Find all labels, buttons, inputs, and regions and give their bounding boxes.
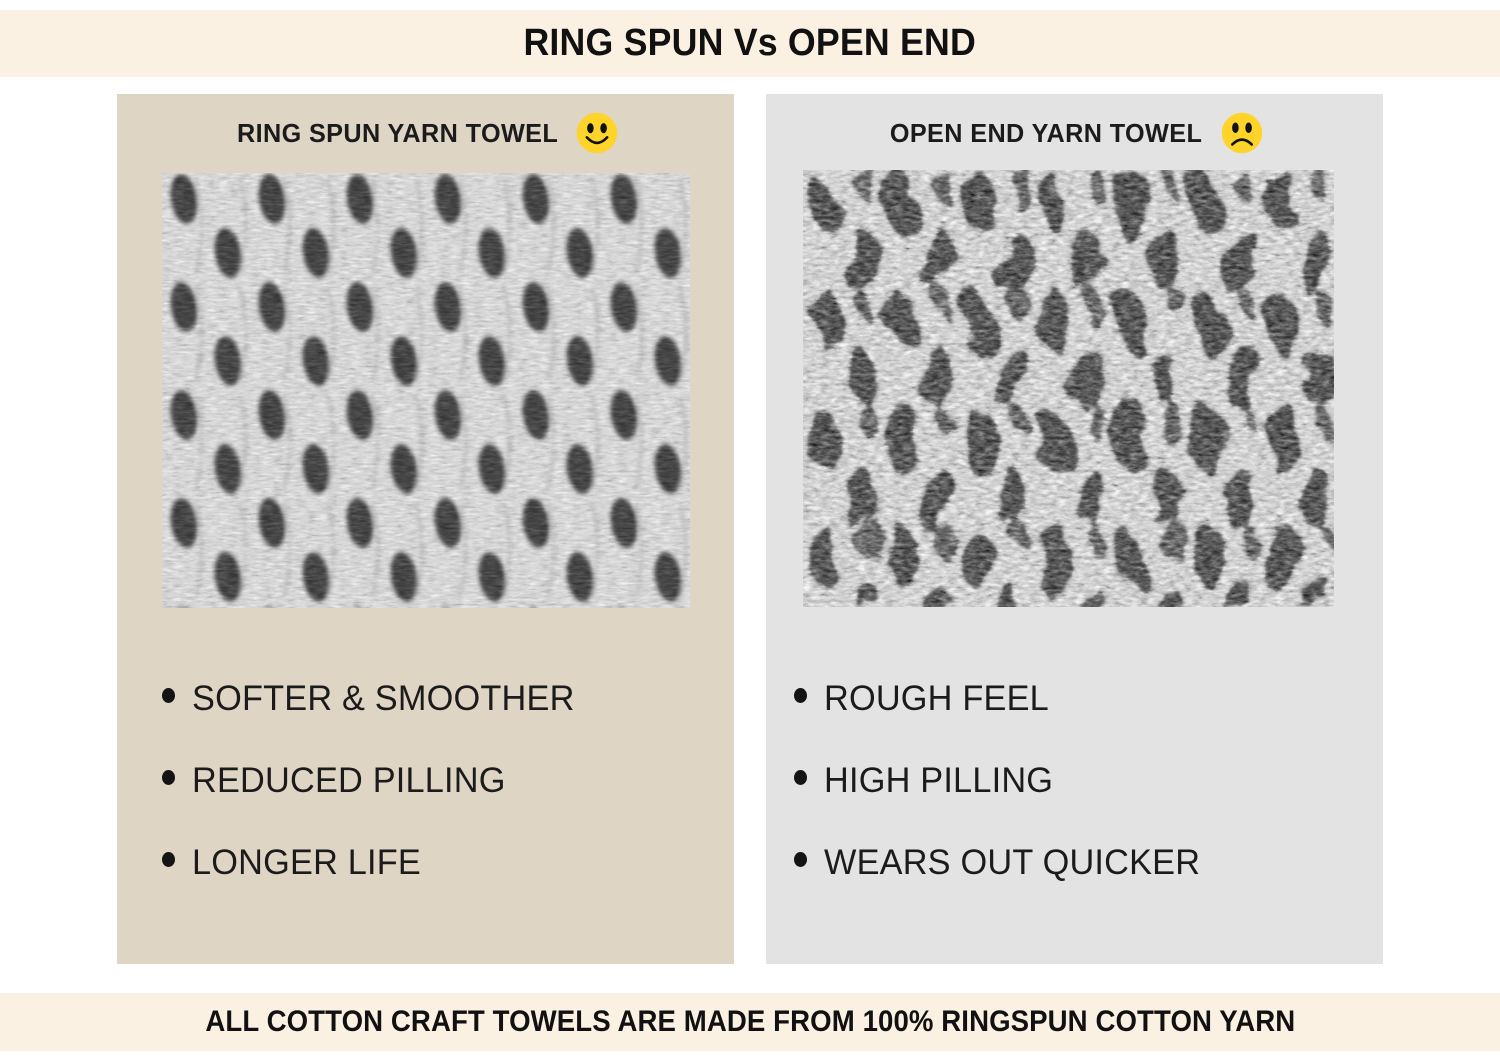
- panel-open-end: OPEN END YARN TOWEL: [766, 94, 1383, 964]
- page-title: RING SPUN Vs OPEN END: [524, 22, 977, 65]
- list-item: SOFTER & SMOOTHER: [162, 679, 702, 761]
- bullet-label: REDUCED PILLING: [192, 761, 506, 801]
- bullet-list-open-end: ROUGH FEEL HIGH PILLING WEARS OUT QUICKE…: [794, 679, 1334, 925]
- bullet-dot-icon: [794, 688, 807, 703]
- panel-ring-spun: RING SPUN YARN TOWEL: [117, 94, 734, 964]
- panel-title-ring-spun: RING SPUN YARN TOWEL: [237, 118, 558, 149]
- bullet-label: HIGH PILLING: [824, 761, 1053, 801]
- bullet-list-ring-spun: SOFTER & SMOOTHER REDUCED PILLING LONGER…: [162, 679, 702, 925]
- list-item: ROUGH FEEL: [794, 679, 1334, 761]
- list-item: WEARS OUT QUICKER: [794, 843, 1334, 925]
- bullet-label: WEARS OUT QUICKER: [824, 843, 1200, 883]
- bullet-label: SOFTER & SMOOTHER: [192, 679, 575, 719]
- footer-note: ALL COTTON CRAFT TOWELS ARE MADE FROM 10…: [205, 1005, 1295, 1039]
- list-item: LONGER LIFE: [162, 843, 702, 925]
- bullet-label: LONGER LIFE: [192, 843, 421, 883]
- texture-image-ring-spun: [162, 173, 690, 608]
- panel-title-open-end: OPEN END YARN TOWEL: [890, 118, 1202, 149]
- bullet-dot-icon: [794, 770, 807, 785]
- bullet-dot-icon: [794, 852, 807, 867]
- panel-heading-ring-spun: RING SPUN YARN TOWEL: [117, 94, 734, 172]
- smiley-face-icon: [575, 111, 619, 155]
- list-item: HIGH PILLING: [794, 761, 1334, 843]
- bullet-dot-icon: [162, 852, 175, 867]
- sad-face-icon: [1220, 111, 1264, 155]
- infographic-page: RING SPUN Vs OPEN END RING SPUN YARN TOW…: [0, 0, 1500, 1061]
- bullet-dot-icon: [162, 688, 175, 703]
- panel-heading-open-end: OPEN END YARN TOWEL: [766, 94, 1383, 172]
- footer-band: ALL COTTON CRAFT TOWELS ARE MADE FROM 10…: [0, 993, 1500, 1051]
- bullet-label: ROUGH FEEL: [824, 679, 1049, 719]
- bullet-dot-icon: [162, 770, 175, 785]
- list-item: REDUCED PILLING: [162, 761, 702, 843]
- comparison-panels: RING SPUN YARN TOWEL: [0, 94, 1500, 964]
- texture-image-open-end: [803, 170, 1334, 607]
- header-band: RING SPUN Vs OPEN END: [0, 10, 1500, 77]
